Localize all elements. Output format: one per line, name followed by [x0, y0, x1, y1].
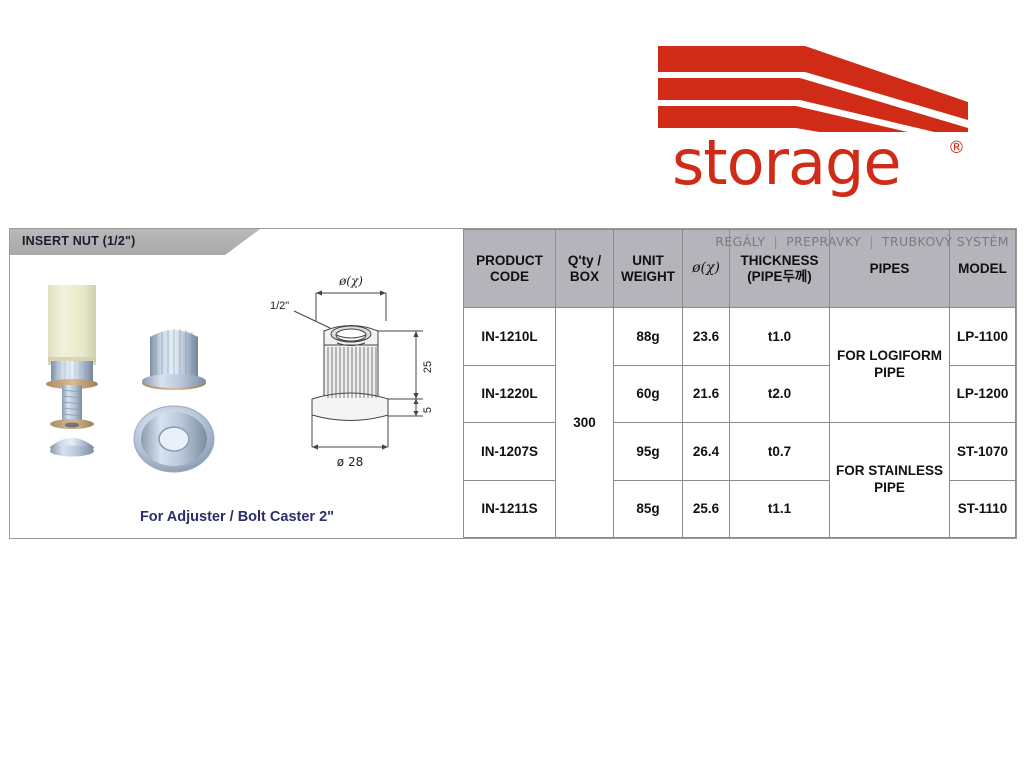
cell-diameter: 23.6 — [683, 308, 730, 366]
col-header-product-code: PRODUCT CODE — [464, 230, 556, 308]
storage-stripes-icon — [650, 42, 980, 132]
header-line-2: BOX — [558, 269, 611, 285]
col-header-pipes: PIPES — [830, 230, 950, 308]
header-line-1: UNIT — [616, 253, 680, 269]
cell-pipe-group: FOR STAINLESS PIPE — [830, 423, 950, 538]
header-pipes-label: PIPES — [832, 261, 947, 277]
brand-wordmark: storage — [672, 132, 901, 194]
cell-thickness: t2.0 — [730, 365, 830, 423]
header-line-2: WEIGHT — [616, 269, 680, 285]
table-row: IN-1207S 95g 26.4 t0.7 FOR STAINLESS PIP… — [464, 423, 1016, 481]
page-title: INSERT NUT (1/2") — [22, 234, 136, 248]
cell-product-code: IN-1220L — [464, 365, 556, 423]
cell-diameter: 26.4 — [683, 423, 730, 481]
cell-product-code: IN-1207S — [464, 423, 556, 481]
header-diameter-label: ø(χ) — [692, 260, 720, 276]
panel-caption: For Adjuster / Bolt Caster 2" — [10, 509, 464, 525]
header-line-1: THICKNESS — [732, 253, 827, 269]
pipe-group-line-2: PIPE — [832, 480, 947, 497]
cell-thickness: t1.1 — [730, 480, 830, 538]
pipe-group-line-1: FOR LOGIFORM — [832, 348, 947, 365]
table-header-row: PRODUCT CODE Q'ty / BOX UNIT WEIGHT ø(χ) — [464, 230, 1016, 308]
drawing-thread-label: 1/2" — [270, 300, 289, 312]
product-panel: INSERT NUT (1/2") — [10, 229, 463, 538]
cell-unit-weight: 60g — [614, 365, 683, 423]
cell-thickness: t0.7 — [730, 423, 830, 481]
header-line-1: PRODUCT — [466, 253, 553, 269]
col-header-model: MODEL — [950, 230, 1016, 308]
cell-diameter: 25.6 — [683, 480, 730, 538]
technical-drawing: ø(χ) 1/2" 25 5 ø 28 — [268, 271, 458, 481]
header-model-label: MODEL — [952, 261, 1013, 277]
registered-trademark-icon: ® — [948, 138, 965, 158]
cell-unit-weight: 95g — [614, 423, 683, 481]
cell-qty-per-box: 300 — [556, 308, 614, 538]
drawing-height-dim-label: 25 — [422, 361, 434, 373]
header-line-1: Q'ty / — [558, 253, 611, 269]
cell-product-code: IN-1210L — [464, 308, 556, 366]
col-header-qty-box: Q'ty / BOX — [556, 230, 614, 308]
spec-sheet: INSERT NUT (1/2") — [9, 228, 1017, 539]
cell-unit-weight: 85g — [614, 480, 683, 538]
drawing-bottom-dim-label: ø 28 — [337, 455, 363, 469]
drawing-flange-dim-label: 5 — [422, 407, 434, 413]
cell-pipe-group: FOR LOGIFORM PIPE — [830, 308, 950, 423]
cell-unit-weight: 88g — [614, 308, 683, 366]
cell-model: LP-1200 — [950, 365, 1016, 423]
page-root: storage ® INSERT NUT (1/2") — [0, 0, 1024, 768]
drawing-top-dim-label: ø(χ) — [338, 274, 363, 288]
specification-table: PRODUCT CODE Q'ty / BOX UNIT WEIGHT ø(χ) — [463, 229, 1016, 538]
pipe-group-line-2: PIPE — [832, 365, 947, 382]
col-header-thickness: THICKNESS (PIPE두께) — [730, 230, 830, 308]
cell-model: ST-1070 — [950, 423, 1016, 481]
product-photo — [18, 279, 248, 504]
cell-diameter: 21.6 — [683, 365, 730, 423]
cell-model: ST-1110 — [950, 480, 1016, 538]
cell-model: LP-1100 — [950, 308, 1016, 366]
pipe-group-line-1: FOR STAINLESS — [832, 463, 947, 480]
col-header-unit-weight: UNIT WEIGHT — [614, 230, 683, 308]
cell-thickness: t1.0 — [730, 308, 830, 366]
col-header-diameter: ø(χ) — [683, 230, 730, 308]
table-row: IN-1210L 300 88g 23.6 t1.0 FOR LOGIFORM … — [464, 308, 1016, 366]
brand-logo: storage ® — [650, 42, 990, 212]
header-line-2: (PIPE두께) — [732, 269, 827, 285]
cell-product-code: IN-1211S — [464, 480, 556, 538]
header-line-2: CODE — [466, 269, 553, 285]
